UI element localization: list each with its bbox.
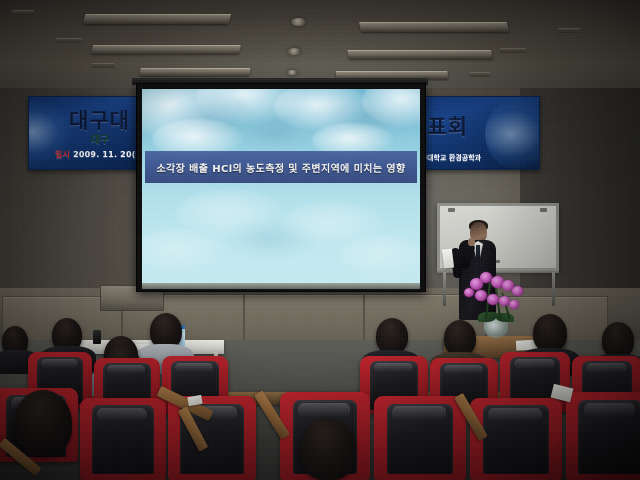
banner-date: 일시 2009. 11. 20(금 (55, 149, 143, 160)
slide-title-text: 소각장 배출 HCl의 농도측정 및 주변지역에 미치는 영향 (156, 160, 405, 175)
slide-title-bar: 소각장 배출 HCl의 농도측정 및 주변지역에 미치는 영향 (145, 151, 417, 183)
seat-highlight (97, 408, 147, 421)
orchid-bloom (487, 294, 499, 305)
seat-highlight (107, 365, 145, 374)
orchid-bloom (512, 286, 523, 296)
audience-head (602, 322, 634, 358)
ceiling-vent (12, 10, 34, 15)
ceiling-downlight (288, 48, 301, 55)
audience-head (14, 390, 72, 456)
projection-screen: 소각장 배출 HCl의 농도측정 및 주변지역에 미치는 영향 (136, 83, 426, 292)
seat-highlight (175, 363, 213, 372)
presenter-papers (442, 248, 454, 268)
audience-head (300, 418, 356, 480)
ceiling-light-strip (91, 45, 241, 54)
auditorium-photo: 대구대 대구 일시 2009. 11. 20(금 발표회 표회 : 대구대학교 … (0, 0, 640, 480)
whiteboard-clip (448, 208, 455, 212)
seat-highlight (488, 408, 541, 421)
orchid-bloom (509, 300, 519, 309)
ceiling-downlight (291, 18, 306, 26)
cloud-shape (226, 219, 316, 259)
whiteboard-clip (540, 208, 547, 212)
audience-head (376, 318, 408, 354)
presenter-hand (468, 238, 475, 246)
ceiling-light-strip (359, 22, 509, 32)
presenter-tie (476, 245, 480, 259)
banner-subtitle-left: 대구 (91, 131, 109, 146)
cloud-shape (238, 115, 312, 151)
ceiling-vent (470, 72, 490, 77)
banner-swoosh (485, 97, 540, 170)
seat-highlight (514, 359, 555, 369)
seat-highlight (392, 406, 445, 419)
ceiling-vent (56, 38, 82, 43)
orchid-bloom (475, 290, 487, 301)
banner-date-value: 2009. 11. 20(금 (73, 150, 143, 159)
seat-highlight (374, 363, 413, 372)
ceiling-vent (558, 28, 580, 33)
cloud-shape (142, 229, 228, 271)
orchid-bloom (464, 288, 474, 297)
screen-bottom-band (142, 283, 420, 289)
seat-highlight (584, 403, 635, 417)
audience-head (533, 314, 567, 352)
auditorium-seat[interactable] (566, 392, 640, 480)
ceiling-light-strip (83, 14, 231, 24)
slide-canvas: 소각장 배출 HCl의 농도측정 및 주변지역에 미치는 영향 (142, 89, 420, 283)
ceiling-light-strip (139, 68, 250, 76)
auditorium-seat[interactable] (80, 398, 166, 480)
ceiling-downlight (287, 70, 298, 75)
banner-date-label: 일시 (55, 150, 70, 159)
seat-highlight (298, 403, 350, 417)
seat-highlight (586, 363, 627, 373)
audience-head (444, 320, 476, 356)
whiteboard-leg (552, 272, 555, 306)
ceiling-vent (500, 48, 526, 53)
seat-highlight (444, 365, 483, 374)
wall-panel (244, 294, 364, 342)
ceiling-vent (92, 63, 114, 68)
whiteboard-leg (443, 272, 446, 306)
auditorium-seat[interactable] (470, 398, 562, 480)
cloud-shape (338, 235, 420, 275)
auditorium-seat[interactable] (374, 396, 466, 480)
ceiling-light-strip (347, 50, 492, 59)
beverage-can (93, 330, 101, 344)
seat-highlight (41, 359, 78, 368)
